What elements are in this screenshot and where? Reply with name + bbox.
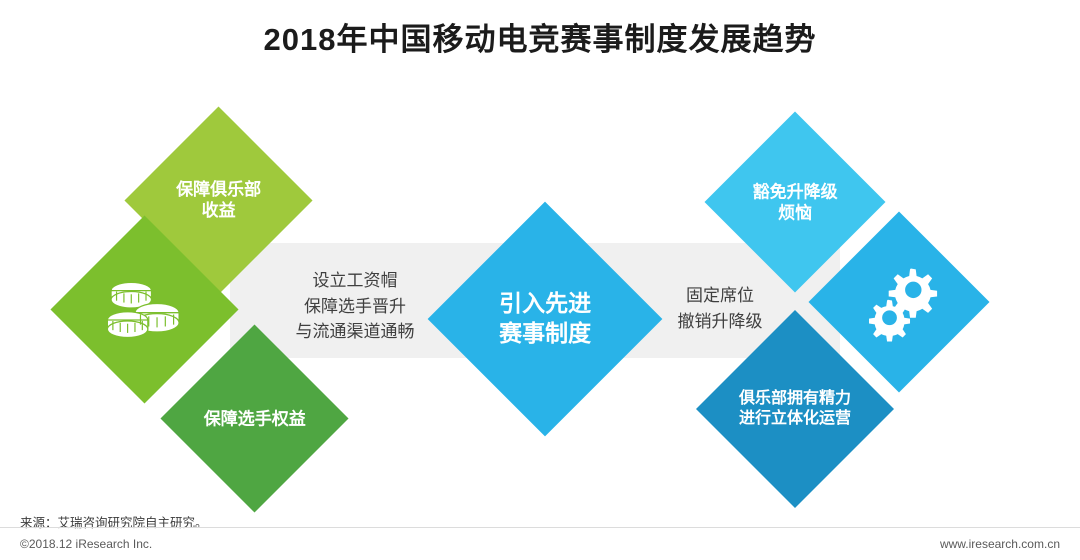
footer: ©2018.12 iResearch Inc. www.iresearch.co…	[0, 527, 1080, 560]
node-exempt-relegation-label: 豁免升降级 烦恼	[753, 181, 838, 224]
gears-icon	[860, 262, 942, 344]
footer-url: www.iresearch.com.cn	[940, 537, 1060, 551]
connector-text-left: 设立工资帽 保障选手晋升 与流通渠道通畅	[260, 268, 450, 345]
node-player-rights-label: 保障选手权益	[204, 408, 306, 429]
coin-stack-icon	[100, 263, 192, 355]
node-center-label: 引入先进 赛事制度	[499, 289, 591, 349]
connector-text-right: 固定席位 撤销升降级	[640, 283, 800, 334]
node-center[interactable]: 引入先进 赛事制度	[428, 202, 663, 437]
page-title: 2018年中国移动电竞赛事制度发展趋势	[0, 14, 1080, 59]
node-club-energy-label: 俱乐部拥有精力 进行立体化运营	[739, 389, 851, 429]
footer-copyright: ©2018.12 iResearch Inc.	[20, 537, 152, 551]
node-club-income-label: 保障俱乐部 收益	[176, 179, 261, 222]
